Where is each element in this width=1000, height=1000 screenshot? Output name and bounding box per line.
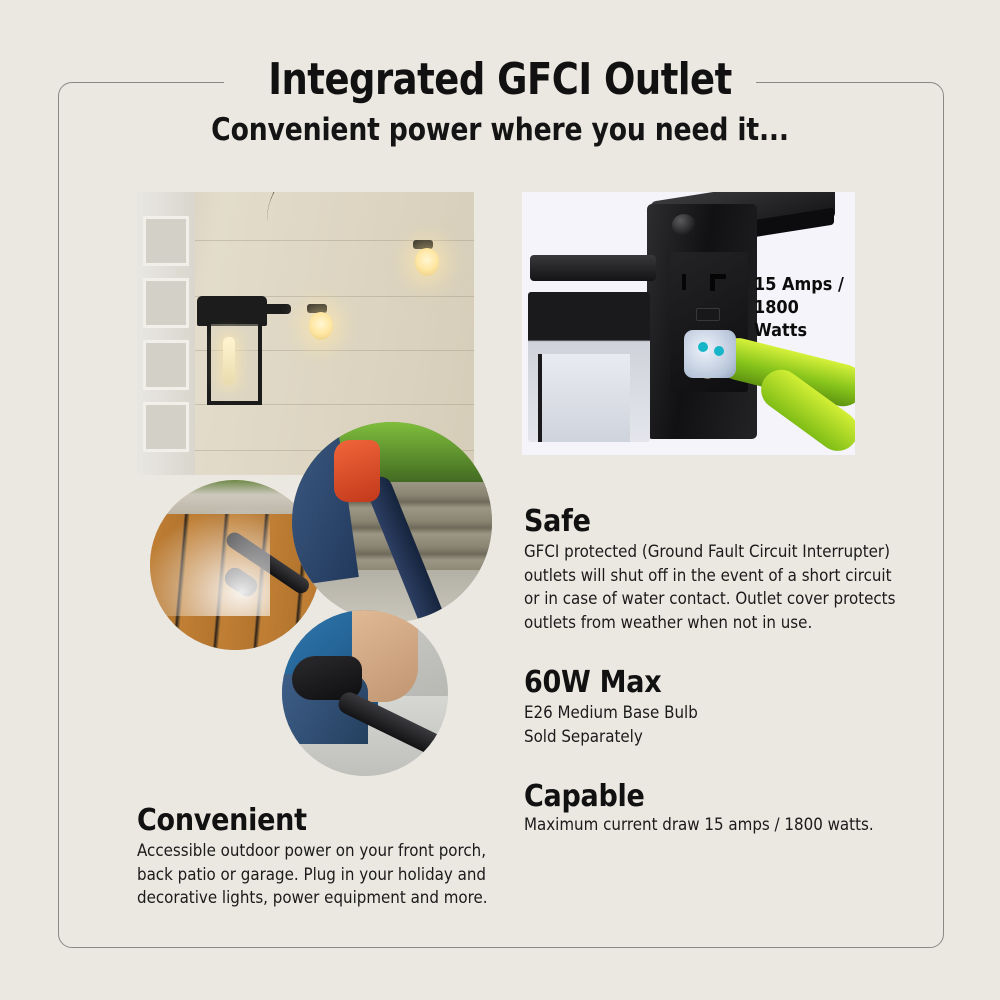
section-body-60w-max: E26 Medium Base Bulb Sold Separately — [524, 701, 698, 748]
page-subtitle: Convenient power where you need it... — [70, 112, 930, 148]
cord-plug-head — [684, 330, 736, 378]
product-infographic: Integrated GFCI Outlet Convenient power … — [0, 0, 1000, 1000]
section-body-safe: GFCI protected (Ground Fault Circuit Int… — [524, 540, 895, 635]
page-title: Integrated GFCI Outlet — [80, 57, 920, 103]
outlet-slot — [682, 274, 686, 290]
section-heading-safe: Safe — [524, 504, 591, 539]
outlet-slot — [710, 279, 715, 291]
glass-panel — [538, 354, 630, 442]
string-bulb — [309, 312, 333, 340]
section-body-capable: Maximum current draw 15 amps / 1800 watt… — [524, 813, 874, 837]
section-heading-60w-max: 60W Max — [524, 665, 661, 700]
fixture-mount-arm — [530, 255, 656, 281]
string-light-wire — [264, 192, 474, 303]
fixture-lantern-glass — [528, 292, 650, 442]
test-button — [696, 308, 720, 321]
string-bulb — [415, 248, 439, 276]
water-spray — [150, 508, 270, 616]
lantern-mount-arm — [259, 304, 291, 314]
mounting-knob — [672, 214, 696, 236]
door-pane — [143, 402, 189, 452]
door-pane — [143, 278, 189, 328]
photo-patio-vacuum — [282, 610, 448, 776]
door-pane — [143, 216, 189, 266]
amperage-callout: 15 Amps / 1800 Watts — [754, 274, 847, 343]
orange-glove — [334, 440, 380, 502]
lantern-bulb — [223, 337, 235, 385]
section-heading-capable: Capable — [524, 779, 645, 814]
section-body-convenient: Accessible outdoor power on your front p… — [137, 839, 488, 910]
section-heading-convenient: Convenient — [137, 803, 307, 838]
plug-indicator — [714, 346, 724, 356]
door-pane — [143, 340, 189, 390]
photo-gfci-outlet-closeup: 15 Amps / 1800 Watts — [522, 192, 855, 455]
plug-indicator — [698, 342, 708, 352]
photo-leaf-blower — [292, 422, 492, 622]
